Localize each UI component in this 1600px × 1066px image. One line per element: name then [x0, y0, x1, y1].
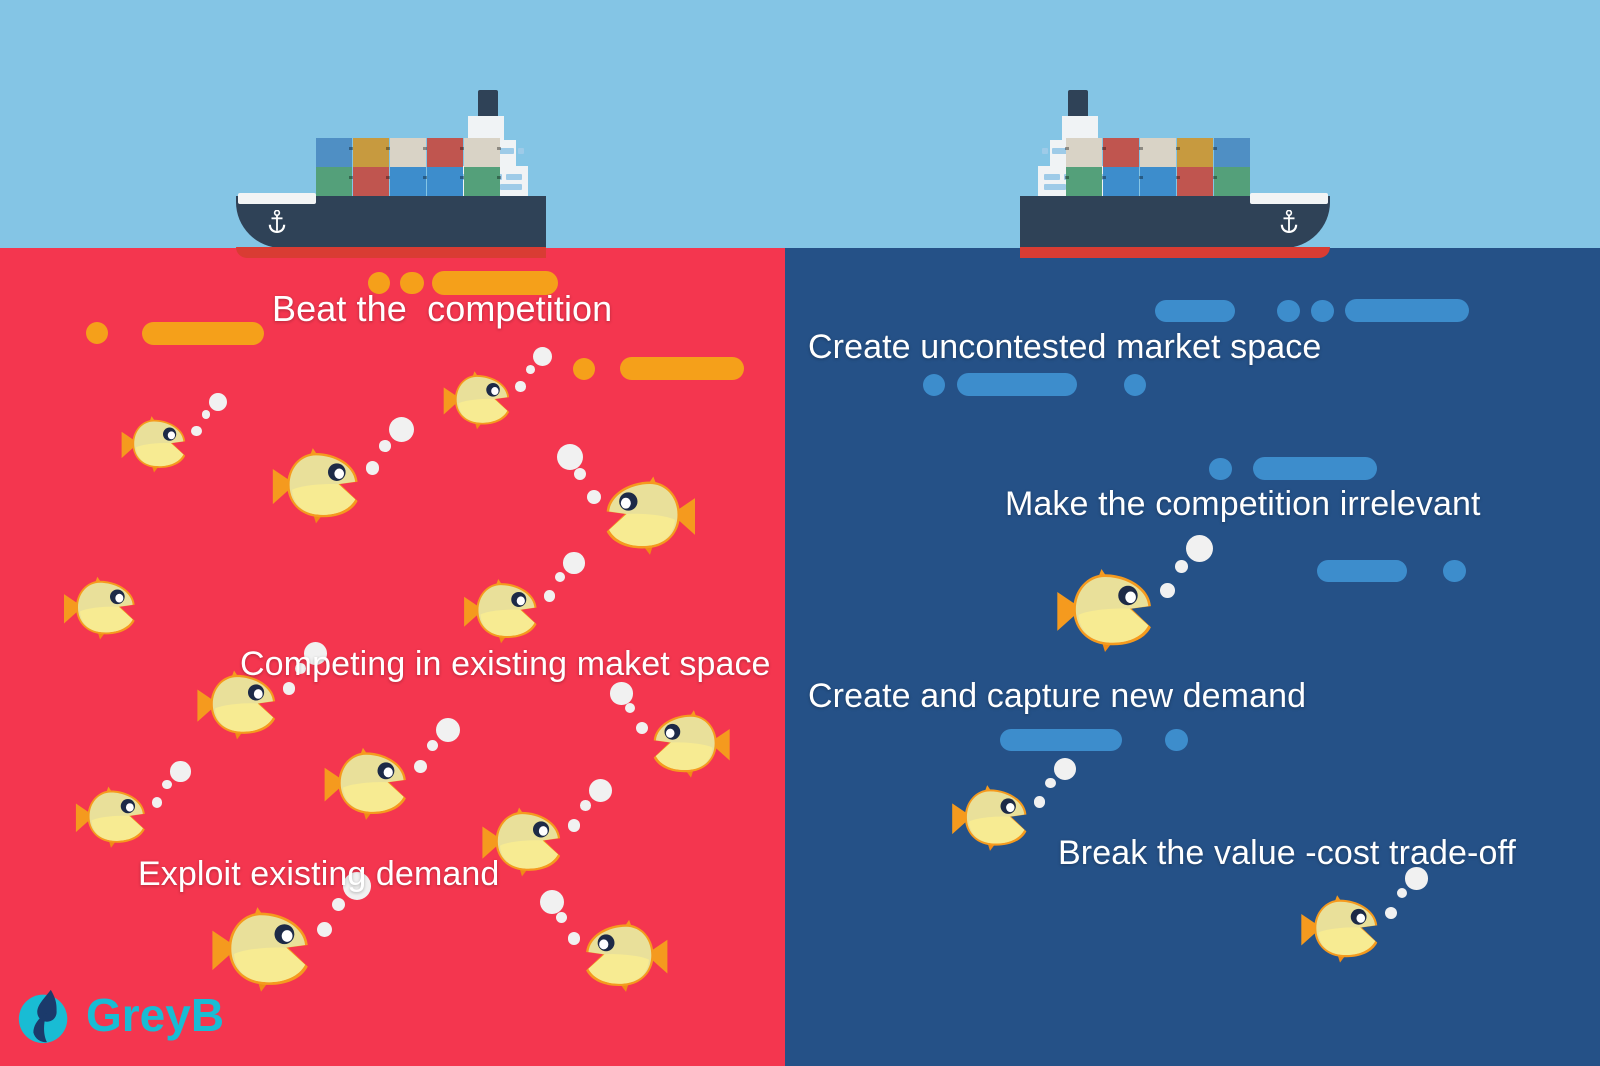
- bubble: [1385, 907, 1397, 919]
- fish-red-ocean: [600, 468, 700, 560]
- bubble: [1186, 535, 1214, 563]
- ship-funnel: [478, 90, 498, 116]
- decorative-pill-orange: [142, 322, 264, 345]
- fish-red-ocean: [648, 703, 734, 782]
- anchor-icon: [266, 210, 288, 234]
- cargo-container: [1214, 167, 1250, 196]
- cargo-container: [1140, 167, 1176, 196]
- ship-right: [1020, 236, 1330, 248]
- ship-window: [500, 184, 522, 190]
- bubble: [366, 461, 379, 474]
- cargo-container: [1177, 167, 1213, 196]
- fish-red-ocean: [268, 440, 364, 528]
- decorative-pill-blue: [1277, 300, 1300, 322]
- bubble: [379, 440, 391, 452]
- ship-window: [506, 174, 522, 180]
- cargo-container-stack: [1065, 138, 1250, 196]
- cargo-container: [427, 167, 463, 196]
- ship-superstructure: [468, 116, 504, 140]
- decorative-pill-blue: [1443, 560, 1466, 582]
- decorative-pill-blue: [1124, 374, 1146, 396]
- bubble: [568, 819, 580, 831]
- bubble: [574, 468, 586, 480]
- cargo-container: [1214, 138, 1250, 167]
- cargo-container: [464, 167, 500, 196]
- cargo-container: [390, 167, 426, 196]
- ship-bow-rail: [238, 193, 316, 204]
- bubble: [515, 381, 525, 391]
- bubble: [589, 779, 612, 802]
- red-ocean-caption-3: Exploit existing demand: [138, 855, 499, 894]
- decorative-pill-orange: [573, 358, 595, 380]
- greyb-logo[interactable]: GreyB: [14, 984, 224, 1046]
- bubble: [544, 590, 555, 601]
- bubble: [170, 761, 190, 781]
- cargo-container-stack: [316, 138, 501, 196]
- decorative-pill-blue: [1155, 300, 1235, 322]
- cargo-container: [316, 138, 352, 167]
- bubble: [283, 682, 295, 694]
- ship-funnel: [1068, 90, 1088, 116]
- bubble: [436, 718, 460, 742]
- bubble: [526, 365, 535, 374]
- blue-ocean-background: [785, 248, 1600, 1066]
- blue-ocean-caption-3: Create and capture new demand: [808, 677, 1306, 716]
- fish-red-ocean: [320, 740, 412, 825]
- bubble: [555, 572, 565, 582]
- infographic-canvas: Beat the competitionCompeting in existin…: [0, 0, 1600, 1066]
- cargo-container: [1177, 138, 1213, 167]
- fish-red-ocean: [207, 898, 315, 997]
- bubble: [610, 682, 632, 704]
- cargo-container: [1066, 138, 1102, 167]
- fish-red-ocean: [440, 365, 514, 433]
- bubble: [1160, 583, 1175, 598]
- bubble: [587, 490, 601, 504]
- fish-blue-ocean: [1052, 560, 1158, 658]
- decorative-pill-blue: [1345, 299, 1469, 322]
- cargo-container: [353, 138, 389, 167]
- bubble: [563, 552, 584, 573]
- cargo-container: [427, 138, 463, 167]
- fish-blue-ocean: [1297, 888, 1383, 967]
- decorative-pill-blue: [1253, 457, 1377, 480]
- ship-superstructure: [1062, 116, 1098, 140]
- cargo-container: [1140, 138, 1176, 167]
- container-row: [1065, 138, 1250, 167]
- decorative-pill-orange: [620, 357, 744, 380]
- red-ocean-caption-1: Beat the competition: [272, 288, 612, 330]
- cargo-container: [1103, 167, 1139, 196]
- bubble: [556, 912, 567, 923]
- decorative-pill-blue: [1209, 458, 1232, 480]
- bubble: [202, 410, 211, 419]
- fish-red-ocean: [580, 912, 672, 997]
- blue-ocean-caption-1: Create uncontested market space: [808, 328, 1321, 367]
- fish-red-ocean: [60, 570, 140, 644]
- bubble: [427, 740, 438, 751]
- bubble: [317, 922, 332, 937]
- bubble: [414, 760, 427, 773]
- decorative-pill-blue: [923, 374, 945, 396]
- blue-ocean-caption-4: Break the value -cost trade-off: [1058, 834, 1516, 873]
- bubble: [389, 417, 414, 442]
- ship-window: [1044, 174, 1060, 180]
- cargo-container: [464, 138, 500, 167]
- anchor-icon: [1278, 210, 1300, 234]
- container-row: [316, 167, 501, 196]
- blue-ocean-caption-2: Make the competition irrelevant: [1005, 485, 1481, 524]
- ship-window: [1044, 184, 1066, 190]
- cargo-container: [353, 167, 389, 196]
- bubble: [557, 444, 583, 470]
- greyb-droplet-icon: [14, 984, 76, 1046]
- decorative-pill-blue: [1000, 729, 1122, 751]
- fish-blue-ocean: [948, 778, 1032, 855]
- decorative-pill-blue: [1317, 560, 1407, 582]
- decorative-pill-blue: [1165, 729, 1188, 751]
- ship-window: [1042, 148, 1048, 154]
- container-row: [1065, 167, 1250, 196]
- ship-left: [236, 236, 546, 248]
- decorative-pill-blue: [1311, 300, 1334, 322]
- bubble: [1054, 758, 1076, 780]
- ship-window: [518, 148, 524, 154]
- ship-bow-rail: [1250, 193, 1328, 204]
- bubble: [540, 890, 564, 914]
- cargo-container: [1103, 138, 1139, 167]
- cargo-container: [390, 138, 426, 167]
- bubble: [636, 722, 648, 734]
- bubble: [191, 426, 201, 436]
- container-row: [316, 138, 501, 167]
- decorative-pill-blue: [957, 373, 1077, 396]
- greyb-logo-text: GreyB: [86, 992, 224, 1038]
- cargo-container: [316, 167, 352, 196]
- cargo-container: [1066, 167, 1102, 196]
- decorative-pill-orange: [86, 322, 108, 344]
- fish-red-ocean: [460, 572, 542, 647]
- bubble: [1045, 778, 1055, 788]
- fish-red-ocean: [118, 410, 190, 476]
- fish-red-ocean: [72, 780, 150, 852]
- red-ocean-caption-2: Competing in existing maket space: [240, 645, 771, 684]
- bubble: [1175, 560, 1188, 573]
- bubble: [580, 800, 591, 811]
